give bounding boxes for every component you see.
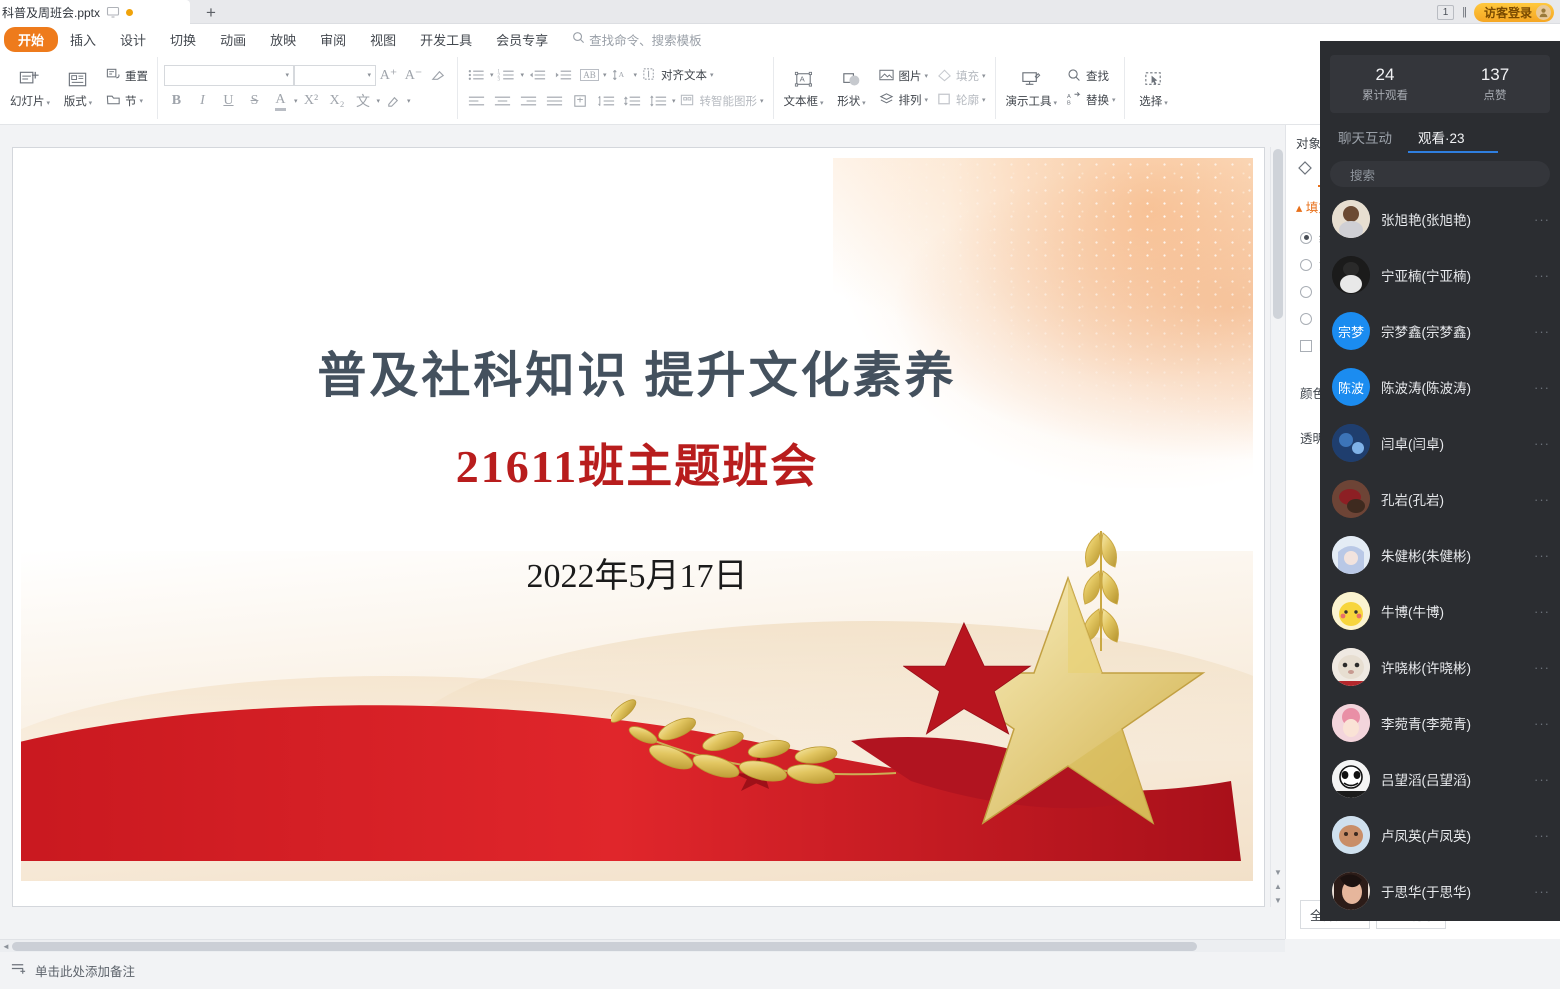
highlighter-icon[interactable] bbox=[381, 90, 406, 113]
wps-presentation-window: 科普及周班会.pptx + 未同步 协作 1 || 访客登录 开始 插入 设计 bbox=[0, 0, 1560, 989]
document-tab[interactable]: 科普及周班会.pptx bbox=[0, 0, 190, 24]
tab-member[interactable]: 会员专享 bbox=[484, 27, 560, 52]
viewer-name: 宗梦鑫(宗梦鑫) bbox=[1381, 321, 1471, 341]
viewer-name: 陈波涛(陈波涛) bbox=[1381, 377, 1471, 397]
chevron-down-icon[interactable]: ▾ bbox=[818, 100, 823, 107]
tab-chat[interactable]: 聊天互动 bbox=[1338, 127, 1392, 155]
superscript-button[interactable]: X² bbox=[298, 90, 323, 113]
bold-button[interactable]: B bbox=[164, 90, 189, 113]
avatar[interactable]: 宗梦 bbox=[1332, 312, 1370, 350]
char-spacing-icon[interactable]: A bbox=[608, 64, 633, 87]
reset-label: 重置 bbox=[125, 68, 148, 84]
avatar[interactable] bbox=[1332, 536, 1370, 574]
stat-likes: 137 点赞 bbox=[1440, 65, 1550, 103]
align-center-icon[interactable] bbox=[490, 90, 515, 113]
chevron-down-icon[interactable]: ▾ bbox=[1112, 96, 1116, 104]
section-reset-group: 重置 节 ▾ bbox=[102, 65, 151, 112]
tab-start[interactable]: 开始 bbox=[4, 27, 58, 52]
replace-label: 替换 bbox=[1086, 92, 1109, 108]
more-options-icon[interactable]: ··· bbox=[1534, 324, 1550, 339]
chevron-down-icon[interactable]: ▾ bbox=[1162, 100, 1167, 107]
viewer-name: 宁亚楠(宁亚楠) bbox=[1381, 265, 1471, 285]
list-item[interactable]: 孔岩(孔岩) ··· bbox=[1320, 471, 1560, 527]
stat-label: 点赞 bbox=[1440, 87, 1550, 103]
shrink-font-button[interactable]: A⁻ bbox=[401, 64, 426, 87]
layout-button[interactable]: 版式 ▾ bbox=[56, 65, 100, 111]
notes-icon bbox=[10, 960, 27, 982]
title-bar-right: 1 || 访客登录 bbox=[1437, 0, 1554, 24]
notes-placeholder: 单击此处添加备注 bbox=[35, 961, 135, 980]
chevron-down-icon[interactable]: ▾ bbox=[407, 97, 411, 105]
list-item[interactable]: 朱健彬(朱健彬) ··· bbox=[1320, 527, 1560, 583]
align-text-label: 对齐文本 bbox=[661, 67, 707, 83]
stat-value: 137 bbox=[1440, 65, 1550, 85]
pinyin-button[interactable]: 文 bbox=[350, 90, 375, 113]
avatar[interactable] bbox=[1332, 480, 1370, 518]
line-spacing-icon[interactable] bbox=[646, 90, 671, 113]
align-text-button[interactable]: 对齐文本 ▾ bbox=[638, 65, 717, 86]
more-options-icon[interactable]: ··· bbox=[1534, 716, 1550, 731]
align-row: ▾ 转智能图形 ▾ bbox=[464, 90, 767, 113]
chevron-down-icon[interactable]: ▾ bbox=[490, 71, 494, 79]
shape-button[interactable]: 形状 ▾ bbox=[829, 65, 873, 111]
viewer-name: 牛博(牛博) bbox=[1381, 601, 1444, 621]
reset-button[interactable]: 重置 bbox=[102, 65, 151, 87]
clear-format-icon[interactable] bbox=[426, 64, 451, 87]
live-stats: 24 累计观看 137 点赞 bbox=[1330, 55, 1550, 113]
grow-font-button[interactable]: A⁺ bbox=[376, 64, 401, 87]
more-options-icon[interactable]: ··· bbox=[1534, 604, 1550, 619]
avatar[interactable] bbox=[1332, 872, 1370, 910]
chevron-down-icon[interactable]: ▾ bbox=[982, 96, 986, 104]
unsaved-dot-icon bbox=[126, 9, 133, 16]
list-item[interactable]: 牛博(牛博) ··· bbox=[1320, 583, 1560, 639]
chevron-down-icon[interactable]: ▾ bbox=[710, 71, 714, 79]
align-right-icon[interactable] bbox=[516, 90, 541, 113]
picture-label: 图片 bbox=[898, 68, 921, 84]
textbox-button[interactable]: A 文本框 ▾ bbox=[780, 65, 828, 111]
tab-insert[interactable]: 插入 bbox=[58, 27, 108, 52]
find-button[interactable]: 查找 bbox=[1063, 66, 1119, 87]
align-text-icon bbox=[641, 66, 658, 85]
outline-button[interactable]: 轮廓 ▾ bbox=[933, 90, 989, 111]
next-slide-icon[interactable]: ▼ bbox=[1271, 893, 1285, 907]
search-command-box[interactable]: 查找命令、搜索模板 bbox=[572, 30, 702, 49]
present-tools-icon bbox=[1020, 67, 1043, 91]
radio-icon[interactable] bbox=[1300, 232, 1312, 244]
italic-button[interactable]: I bbox=[190, 90, 215, 113]
viewer-name: 吕望滔(吕望滔) bbox=[1381, 769, 1471, 789]
chevron-down-icon[interactable]: ▾ bbox=[982, 72, 986, 80]
avatar[interactable] bbox=[1332, 592, 1370, 630]
slide-canvas[interactable]: 普及社科知识 提升文化素养 21611班主题班会 2022年5月17日 bbox=[12, 147, 1265, 907]
stat-value: 24 bbox=[1330, 65, 1440, 85]
chevron-down-icon[interactable]: ▾ bbox=[520, 71, 524, 79]
tab-view[interactable]: 视图 bbox=[358, 27, 408, 52]
list-item[interactable]: 李菀青(李菀青) ··· bbox=[1320, 695, 1560, 751]
list-item[interactable]: 张旭艳(张旭艳) ··· bbox=[1320, 191, 1560, 247]
avatar[interactable] bbox=[1332, 816, 1370, 854]
replace-icon: AB bbox=[1066, 91, 1083, 110]
more-options-icon[interactable]: ··· bbox=[1534, 492, 1550, 507]
title-bar: 科普及周班会.pptx + 未同步 协作 1 || 访客登录 bbox=[0, 0, 1560, 24]
chevron-down-icon[interactable]: ▾ bbox=[45, 100, 50, 107]
present-tools-label: 演示工具 bbox=[1006, 96, 1052, 108]
monitor-icon[interactable] bbox=[106, 5, 120, 19]
shape-label: 形状 bbox=[837, 96, 860, 108]
textbox-label: 文本框 bbox=[784, 96, 819, 108]
avatar[interactable] bbox=[1332, 704, 1370, 742]
list-row: ▾ 123 ▾ AB ▾ A ▾ bbox=[464, 64, 767, 87]
subscript-button[interactable]: X₂ bbox=[324, 90, 349, 113]
ribbon-group-insert: A 文本框 ▾ 形状 ▾ 图片 ▾ bbox=[774, 57, 996, 119]
viewer-name: 朱健彬(朱健彬) bbox=[1381, 545, 1471, 565]
more-options-icon[interactable]: ··· bbox=[1534, 548, 1550, 563]
tab-animation[interactable]: 动画 bbox=[208, 27, 258, 52]
outline-label: 轮廓 bbox=[956, 92, 979, 108]
chevron-down-icon[interactable]: ▾ bbox=[634, 71, 638, 79]
arrange-label: 排列 bbox=[898, 92, 921, 108]
more-options-icon[interactable]: ··· bbox=[1534, 436, 1550, 451]
gold-laurel-decoration bbox=[611, 671, 961, 821]
list-item[interactable]: 卢凤英(卢凤英) ··· bbox=[1320, 807, 1560, 863]
more-options-icon[interactable]: ··· bbox=[1534, 380, 1550, 395]
paragraph-space-icon[interactable] bbox=[620, 90, 645, 113]
list-item[interactable]: 于思华(于思华) ··· bbox=[1320, 863, 1560, 919]
more-options-icon[interactable]: ··· bbox=[1534, 828, 1550, 843]
section-icon bbox=[105, 91, 122, 111]
viewer-search-input[interactable]: 搜索 bbox=[1330, 161, 1550, 187]
more-options-icon[interactable]: ··· bbox=[1534, 212, 1550, 227]
avatar-icon bbox=[1536, 5, 1551, 20]
slide-subtitle[interactable]: 21611班主题班会 bbox=[21, 430, 1253, 496]
search-icon bbox=[1066, 67, 1083, 86]
new-slide-label: 幻灯片 bbox=[10, 96, 45, 108]
svg-text:3: 3 bbox=[498, 78, 501, 83]
document-tab-name: 科普及周班会.pptx bbox=[2, 4, 100, 21]
svg-text:B: B bbox=[1067, 100, 1071, 106]
select-button[interactable]: 选择 ▾ bbox=[1131, 65, 1175, 111]
more-options-icon[interactable]: ··· bbox=[1534, 268, 1550, 283]
list-item[interactable]: 吕望滔(吕望滔) ··· bbox=[1320, 751, 1560, 807]
picture-button[interactable]: 图片 ▾ bbox=[875, 66, 931, 87]
stat-label: 累计观看 bbox=[1330, 87, 1440, 103]
fill-button[interactable]: 填充 ▾ bbox=[933, 66, 989, 87]
radio-icon[interactable] bbox=[1300, 259, 1312, 271]
present-tools-button[interactable]: 演示工具 ▾ bbox=[1002, 65, 1061, 111]
chevron-down-icon[interactable]: ▾ bbox=[924, 72, 928, 80]
list-item[interactable]: 许晓彬(许晓彬) ··· bbox=[1320, 639, 1560, 695]
shape-icon bbox=[840, 67, 863, 91]
viewer-search-placeholder: 搜索 bbox=[1350, 165, 1375, 184]
visitor-login-label: 访客登录 bbox=[1484, 4, 1532, 21]
new-tab-button[interactable]: + bbox=[194, 0, 228, 24]
chevron-down-icon[interactable]: ▾ bbox=[760, 97, 764, 105]
avatar-initials: 陈波 bbox=[1338, 378, 1364, 397]
avatar[interactable] bbox=[1332, 256, 1370, 294]
reset-icon bbox=[105, 66, 122, 86]
layout-label: 版式 bbox=[64, 96, 87, 108]
chevron-down-icon[interactable]: ▾ bbox=[87, 100, 92, 107]
previous-slide-icon[interactable]: ▲ bbox=[1271, 879, 1285, 893]
character-format-row: B I U S A ▾ X² X₂ 文 ▾ ▾ bbox=[164, 90, 451, 113]
more-options-icon[interactable]: ··· bbox=[1534, 884, 1550, 899]
avatar[interactable] bbox=[1332, 424, 1370, 462]
search-icon bbox=[572, 31, 585, 47]
ribbon-group-select: 选择 ▾ bbox=[1125, 57, 1181, 119]
ribbon-group-paragraph: ▾ 123 ▾ AB ▾ A ▾ bbox=[458, 57, 774, 119]
viewer-name: 李菀青(李菀青) bbox=[1381, 713, 1471, 733]
chevron-down-icon[interactable]: ▾ bbox=[1052, 100, 1057, 107]
search-command-placeholder: 查找命令、搜索模板 bbox=[589, 30, 702, 49]
avatar[interactable] bbox=[1332, 760, 1370, 798]
select-icon bbox=[1142, 67, 1165, 91]
layout-icon bbox=[66, 67, 89, 91]
list-item[interactable]: 宗梦 宗梦鑫(宗梦鑫) ··· bbox=[1320, 303, 1560, 359]
font-color-letter: A bbox=[275, 92, 285, 111]
chevron-down-icon[interactable]: ▾ bbox=[376, 97, 380, 105]
chevron-down-icon[interactable]: ▾ bbox=[139, 97, 143, 105]
align-justify-icon[interactable] bbox=[542, 90, 567, 113]
replace-button[interactable]: AB 替换 ▾ bbox=[1063, 90, 1119, 111]
arrange-icon bbox=[878, 91, 895, 110]
more-options-icon[interactable]: ··· bbox=[1534, 660, 1550, 675]
tab-transition[interactable]: 切换 bbox=[158, 27, 208, 52]
bullet-list-icon[interactable] bbox=[464, 64, 489, 87]
avatar-initials: 宗梦 bbox=[1338, 322, 1364, 341]
font-color-button[interactable]: A bbox=[268, 90, 293, 113]
live-stream-panel: 24 累计观看 137 点赞 聊天互动 观看·23 搜索 张旭艳(张旭艳) ··… bbox=[1320, 41, 1560, 921]
page-count-badge[interactable]: 1 bbox=[1437, 5, 1455, 20]
smartart-label: 转智能图形 bbox=[699, 93, 757, 109]
tab-design[interactable]: 设计 bbox=[108, 27, 158, 52]
font-size-input[interactable]: ▾ bbox=[294, 65, 376, 86]
chevron-down-icon[interactable]: ▾ bbox=[672, 97, 676, 105]
chevron-down-icon[interactable]: ▾ bbox=[603, 71, 607, 79]
vertical-scroll-thumb[interactable] bbox=[1273, 149, 1283, 319]
chevron-down-icon[interactable]: ▾ bbox=[367, 71, 371, 79]
chevron-down-icon[interactable]: ▾ bbox=[924, 96, 928, 104]
viewer-name: 于思华(于思华) bbox=[1381, 881, 1471, 901]
avatar[interactable]: 陈波 bbox=[1332, 368, 1370, 406]
section-label: 节 bbox=[125, 93, 137, 109]
tab-developer[interactable]: 开发工具 bbox=[408, 27, 484, 52]
fill-label: 填充 bbox=[956, 68, 979, 84]
horizontal-scroll-thumb[interactable] bbox=[12, 942, 1197, 951]
viewer-name: 闫卓(闫卓) bbox=[1381, 433, 1444, 453]
tab-slideshow[interactable]: 放映 bbox=[258, 27, 308, 52]
text-direction-label: AB bbox=[580, 69, 599, 81]
viewer-name: 孔岩(孔岩) bbox=[1381, 489, 1444, 509]
sync-bars-icon[interactable]: || bbox=[1462, 6, 1466, 18]
text-direction-button[interactable]: AB bbox=[577, 64, 602, 87]
underline-button[interactable]: U bbox=[216, 90, 241, 113]
slide-vertical-scrollbar[interactable]: ▼ ▲ ▼ bbox=[1270, 147, 1284, 907]
list-item[interactable]: 陈波 陈波涛(陈波涛) ··· bbox=[1320, 359, 1560, 415]
smartart-icon bbox=[679, 92, 696, 111]
viewer-name: 卢凤英(卢凤英) bbox=[1381, 825, 1471, 845]
stat-total-views: 24 累计观看 bbox=[1330, 65, 1440, 103]
more-options-icon[interactable]: ··· bbox=[1534, 772, 1550, 787]
live-panel-tabs: 聊天互动 观看·23 bbox=[1320, 113, 1560, 155]
slide-1[interactable]: 普及社科知识 提升文化素养 21611班主题班会 2022年5月17日 bbox=[21, 158, 1253, 881]
section-button[interactable]: 节 ▾ bbox=[102, 90, 151, 112]
new-slide-button[interactable]: 幻灯片 ▾ bbox=[6, 65, 54, 111]
chevron-down-icon[interactable]: ▾ bbox=[285, 71, 289, 79]
decrease-indent-icon[interactable] bbox=[525, 64, 550, 87]
chevron-down-icon[interactable]: ▾ bbox=[294, 97, 298, 105]
list-item[interactable]: 宁亚楠(宁亚楠) ··· bbox=[1320, 247, 1560, 303]
chevron-down-icon[interactable]: ▾ bbox=[860, 100, 865, 107]
notes-pane[interactable]: 单击此处添加备注 bbox=[0, 952, 1285, 989]
distribute-icon[interactable] bbox=[568, 90, 593, 113]
svg-text:A: A bbox=[618, 70, 624, 79]
new-slide-icon bbox=[18, 67, 41, 91]
ribbon-group-tools: 演示工具 ▾ 查找 AB 替换 ▾ bbox=[996, 57, 1126, 119]
increase-indent-icon[interactable] bbox=[551, 64, 576, 87]
textbox-icon: A bbox=[792, 67, 815, 91]
viewer-name: 张旭艳(张旭艳) bbox=[1381, 209, 1471, 229]
radio-icon[interactable] bbox=[1300, 313, 1312, 325]
tab-viewers[interactable]: 观看·23 bbox=[1418, 127, 1465, 155]
select-label: 选择 bbox=[1139, 96, 1162, 108]
slide-date[interactable]: 2022年5月17日 bbox=[21, 548, 1253, 597]
avatar[interactable] bbox=[1332, 200, 1370, 238]
checkbox-icon[interactable] bbox=[1300, 340, 1312, 352]
viewer-name: 许晓彬(许晓彬) bbox=[1381, 657, 1471, 677]
strikethrough-button[interactable]: S bbox=[242, 90, 267, 113]
ribbon-group-slides: 幻灯片 ▾ 版式 ▾ 重置 节 bbox=[0, 57, 158, 119]
svg-text:A: A bbox=[1067, 94, 1071, 100]
viewer-list[interactable]: 张旭艳(张旭艳) ··· 宁亚楠(宁亚楠) ··· 宗梦 宗梦鑫(宗梦鑫) ··… bbox=[1320, 191, 1560, 927]
horizontal-scrollbar[interactable]: ◄ bbox=[0, 939, 1285, 952]
fill-icon bbox=[936, 67, 953, 86]
list-item[interactable]: 闫卓(闫卓) ··· bbox=[1320, 415, 1560, 471]
numbered-list-icon[interactable]: 123 bbox=[494, 64, 519, 87]
radio-icon[interactable] bbox=[1300, 286, 1312, 298]
line-space-icon[interactable] bbox=[594, 90, 619, 113]
align-left-icon[interactable] bbox=[464, 90, 489, 113]
tab-review[interactable]: 审阅 bbox=[308, 27, 358, 52]
visitor-login-button[interactable]: 访客登录 bbox=[1474, 3, 1554, 22]
scroll-down-icon[interactable]: ▼ bbox=[1271, 865, 1285, 879]
fill-line-icon bbox=[1296, 159, 1314, 182]
convert-to-smartart-button[interactable]: 转智能图形 ▾ bbox=[676, 91, 766, 112]
avatar[interactable] bbox=[1332, 648, 1370, 686]
font-name-input[interactable]: ▾ bbox=[164, 65, 294, 86]
svg-text:A: A bbox=[800, 74, 806, 83]
picture-icon bbox=[878, 67, 895, 86]
find-label: 查找 bbox=[1086, 68, 1109, 84]
outline-icon bbox=[936, 91, 953, 110]
ribbon-group-font: ▾ ▾ A⁺ A⁻ B I U S A bbox=[158, 57, 458, 119]
arrange-button[interactable]: 排列 ▾ bbox=[875, 90, 931, 111]
slide-title[interactable]: 普及社科知识 提升文化素养 bbox=[21, 336, 1253, 407]
